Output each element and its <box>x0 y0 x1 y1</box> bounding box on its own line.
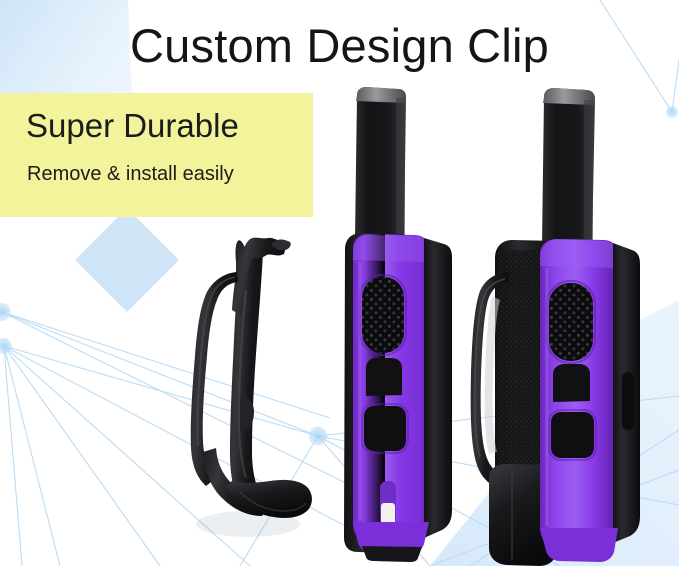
radio-left <box>344 87 452 562</box>
belt-clip-accessory <box>191 238 312 537</box>
radio-right-button-lower <box>551 412 594 458</box>
radio-right-side-nub <box>622 372 634 430</box>
radio-left-ptt-grille <box>362 277 404 353</box>
radio-left-top-bevel <box>353 235 429 262</box>
radio-right-bottom-cap <box>540 528 618 562</box>
product-artwork <box>0 0 679 566</box>
radio-left-right-shell <box>424 238 452 538</box>
radio-left-antenna-shade <box>396 98 405 240</box>
radio-right-top-bevel <box>540 240 618 268</box>
product-feature-image: Custom Design Clip Super Durable Remove … <box>0 0 679 566</box>
radio-right-ptt-grille <box>549 283 593 361</box>
radio-right <box>471 88 640 566</box>
banner-subtitle: Remove & install easily <box>27 161 234 187</box>
page-title: Custom Design Clip <box>0 16 679 76</box>
radio-right-button-middle <box>553 364 590 402</box>
radio-left-bottom-foot <box>362 546 422 562</box>
radio-left-button-middle <box>366 358 402 396</box>
radio-left-button-lower <box>364 406 406 451</box>
radio-right-antenna-shade <box>584 100 593 246</box>
banner-title: Super Durable <box>26 105 239 147</box>
highlight-banner: Super Durable Remove & install easily <box>0 93 313 217</box>
